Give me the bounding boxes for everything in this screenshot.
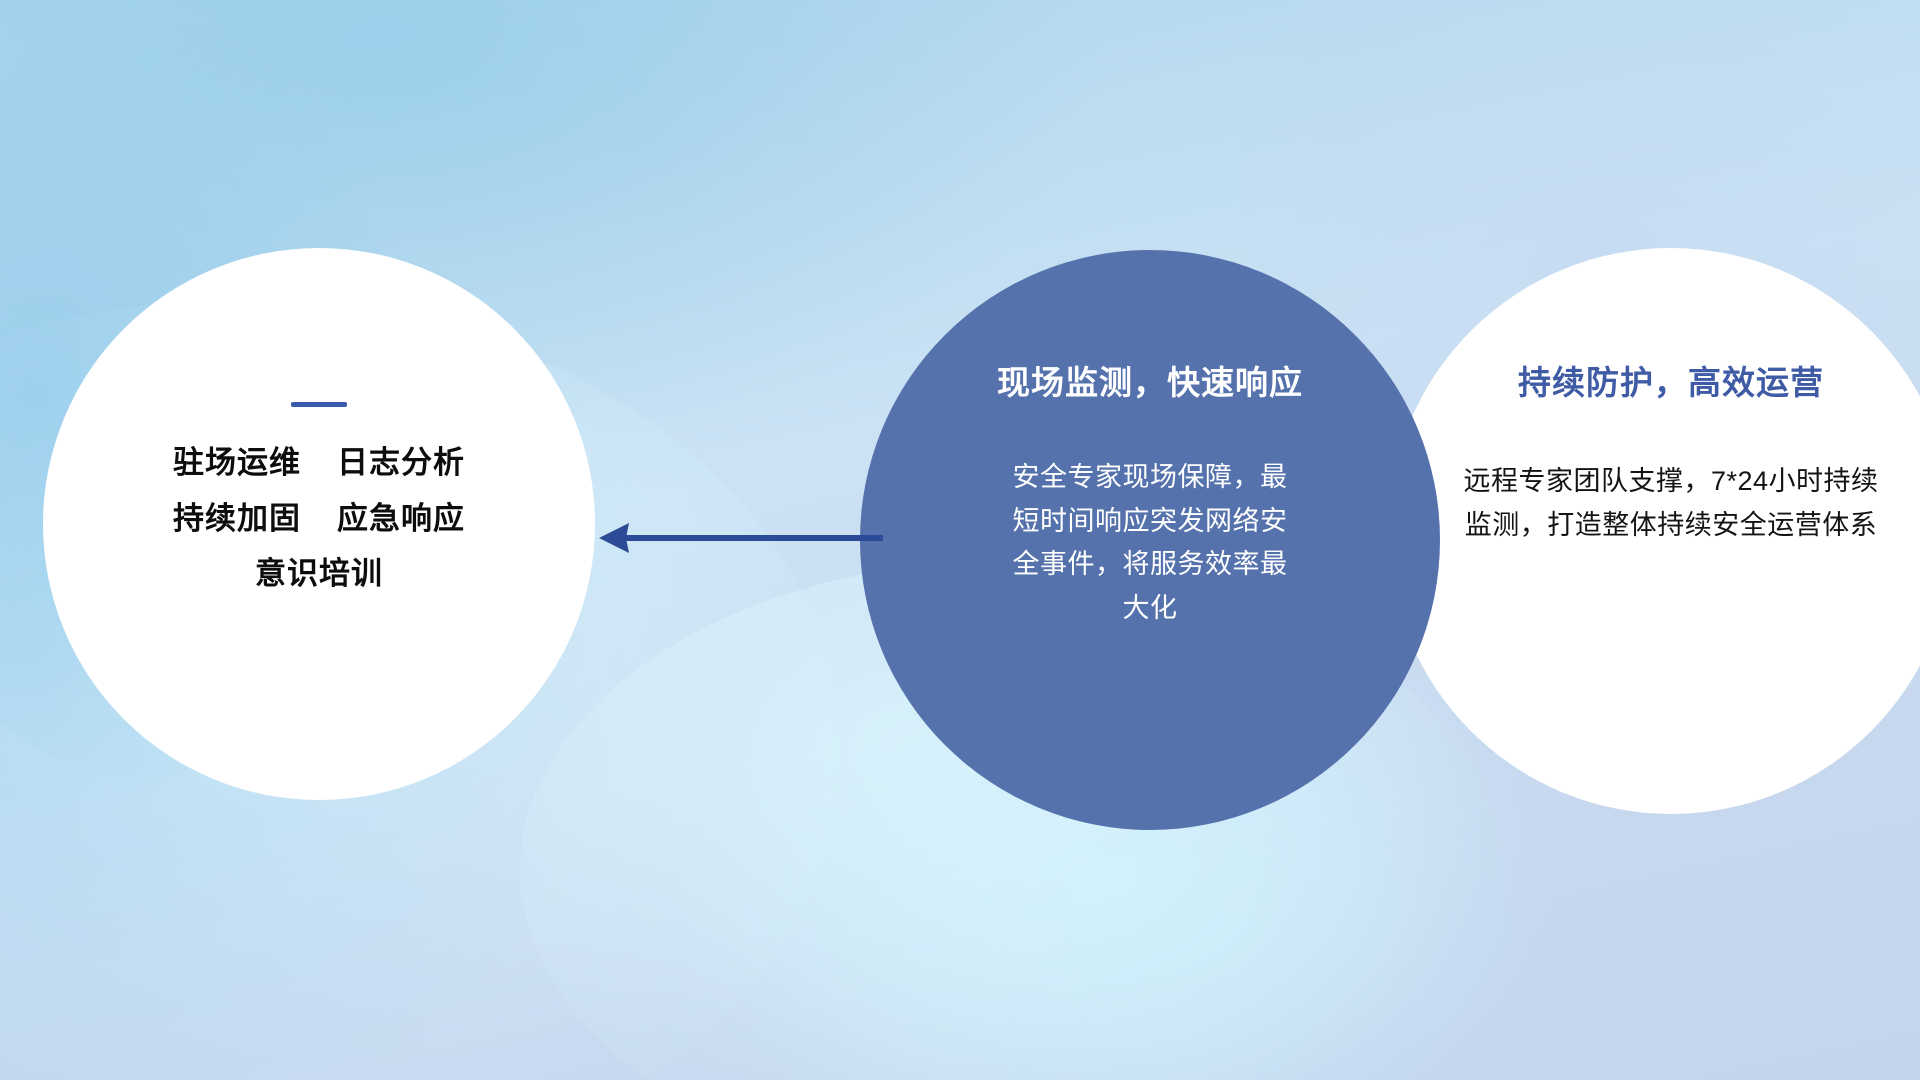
- capability-keyword: 持续加固: [173, 501, 301, 537]
- continuous-protection-title: 持续防护，高效运营: [1518, 356, 1824, 404]
- capability-circle[interactable]: 驻场运维 日志分析 持续加固 应急响应 意识培训: [43, 248, 595, 800]
- capability-keyword-list: 驻场运维 日志分析 持续加固 应急响应 意识培训: [173, 445, 465, 592]
- continuous-protection-circle[interactable]: 持续防护，高效运营 远程专家团队支撑，7*24小时持续监测，打造整体持续安全运营…: [1388, 248, 1920, 814]
- capability-keyword-row: 驻场运维 日志分析: [173, 445, 465, 481]
- flow-arrow-icon: [595, 512, 885, 564]
- capability-keyword: 驻场运维: [173, 445, 301, 481]
- onsite-monitoring-body: 安全专家现场保障，最短时间响应突发网络安全事件，将服务效率最大化: [1000, 456, 1300, 631]
- capability-keyword-row: 持续加固 应急响应: [173, 501, 465, 537]
- capability-keyword-row: 意识培训: [173, 556, 465, 592]
- onsite-monitoring-circle[interactable]: 现场监测，快速响应 安全专家现场保障，最短时间响应突发网络安全事件，将服务效率最…: [860, 250, 1440, 830]
- capability-keyword: 意识培训: [255, 556, 383, 592]
- capability-keyword: 日志分析: [337, 445, 465, 481]
- divider-dash-icon: [291, 402, 347, 407]
- onsite-monitoring-title: 现场监测，快速响应: [997, 356, 1303, 404]
- continuous-protection-body: 远程专家团队支撑，7*24小时持续监测，打造整体持续安全运营体系: [1461, 460, 1881, 547]
- slide-canvas: 驻场运维 日志分析 持续加固 应急响应 意识培训 持续防护，高效运营 远程专家团…: [0, 0, 1920, 1080]
- capability-keyword: 应急响应: [337, 501, 465, 537]
